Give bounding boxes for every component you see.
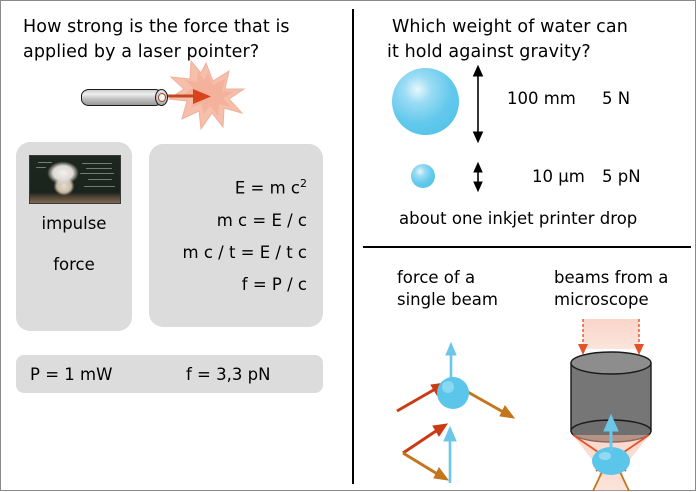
right-panel-question: Which weight of water can it hold agains… [392, 15, 692, 65]
slide-canvas: How strong is the force that is applied … [0, 0, 696, 491]
microscope-caption: beams from a microscope [554, 267, 696, 311]
vector-blue-resultant-icon [444, 427, 456, 483]
single-beam-force-diagram [381, 331, 541, 491]
formula-row: m c = E / c [149, 211, 307, 230]
formula-text-1: E = m c [235, 179, 300, 198]
large-water-droplet [392, 68, 459, 135]
concept-word-list: impulse force [16, 214, 132, 274]
impulse-force-box: impulse force [16, 142, 132, 331]
small-size-arrow-icon [474, 163, 482, 191]
single-beam-caption-line-2: single beam [397, 289, 537, 311]
result-bar: P = 1 mW f = 3,3 pN [16, 355, 323, 393]
trapped-droplet [437, 377, 469, 409]
einstein-photo [29, 155, 121, 204]
large-size-arrow-icon [474, 66, 483, 142]
beam-arrow-left-icon [578, 344, 588, 355]
single-beam-caption-line-1: force of a [397, 267, 537, 289]
outgoing-beam-arrow-orange-icon [466, 391, 514, 418]
formula-sup-1: 2 [300, 177, 307, 190]
formula-row: f = P / c [149, 275, 307, 294]
large-size-label: 100 mm [507, 89, 576, 108]
inkjet-note: about one inkjet printer drop [399, 207, 637, 231]
formula-text-3: m c / t = E / t c [183, 243, 307, 262]
small-size-label: 10 µm [532, 167, 585, 186]
formula-box: E = m c2 m c = E / c m c / t = E / t c f… [149, 144, 323, 327]
vertical-divider [352, 9, 354, 484]
formula-row: m c / t = E / t c [149, 243, 307, 262]
laser-pointer-body [81, 89, 163, 106]
small-water-droplet [411, 164, 435, 188]
single-beam-caption: force of a single beam [397, 267, 537, 311]
large-force-label: 5 N [602, 89, 630, 108]
microscope-beams-diagram [541, 319, 681, 492]
laser-burst-svg [1, 1, 349, 141]
force-vector-triangle [403, 424, 456, 483]
result-power: P = 1 mW [30, 365, 112, 384]
incoming-beam-shaft [583, 319, 639, 349]
right-question-line-2: it hold against gravity? [387, 40, 692, 65]
formula-row: E = m c2 [149, 177, 307, 198]
small-force-label: 5 pN [602, 167, 641, 186]
formula-text-4: f = P / c [242, 275, 307, 294]
vector-red-icon [403, 424, 447, 453]
formula-text-2: m c = E / c [217, 211, 307, 230]
result-force: f = 3,3 pN [186, 365, 270, 384]
vector-orange-icon [403, 453, 448, 480]
measurement-arrows [463, 59, 493, 199]
beam-arrow-right-icon [634, 344, 644, 355]
right-question-line-1: Which weight of water can [392, 15, 692, 40]
microscope-caption-line-1: beams from a [554, 267, 696, 289]
concept-force: force [53, 255, 95, 274]
horizontal-divider [363, 246, 691, 248]
microscope-caption-line-2: microscope [554, 289, 696, 311]
trapped-droplet-microscope [592, 447, 630, 475]
laser-pointer-aperture [158, 93, 166, 102]
concept-impulse: impulse [42, 214, 107, 233]
laser-pointer-illustration [1, 1, 349, 141]
